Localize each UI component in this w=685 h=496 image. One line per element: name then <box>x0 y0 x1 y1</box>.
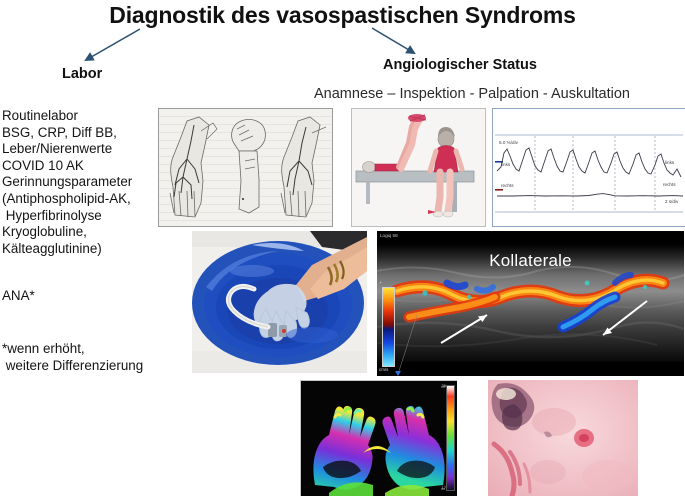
examination-steps-subheading: Anamnese – Inspektion - Palpation - Ausk… <box>314 86 630 102</box>
ratschow-drawing-icon <box>352 109 485 226</box>
hand-vessel-drawing-panel <box>158 108 333 227</box>
page-title: Diagnostik des vasospastischen Syndroms <box>0 2 685 29</box>
lab-parameter-list: Routinelabor BSG, CRP, Diff BB, Leber/Ni… <box>2 108 162 257</box>
ppg-right-channel-label-end: rechts <box>663 182 676 187</box>
ppg-left-channel-label-end: links <box>665 160 674 165</box>
ppg-pulse-curve-panel: h, Werner Puls: Zeh 1 (PPG) 09.10.2009 1… <box>492 108 685 227</box>
ppg-left-channel-label: links <box>501 162 510 167</box>
temperature-color-scale <box>446 385 455 491</box>
footnote-text: *wenn erhöht, weitere Differenzierung <box>2 341 202 374</box>
duplex-ultrasound-panel: + cm/s Logiq 58 Kollaterale <box>377 231 684 376</box>
ppg-right-channel-label: rechts <box>501 183 514 188</box>
doppler-scale-bottom-label: cm/s <box>379 367 388 372</box>
thermography-panel: 36 17 <box>300 380 457 496</box>
doppler-color-scale <box>382 287 395 367</box>
cold-water-provocation-photo <box>192 231 367 373</box>
hand-drawing-middle-icon <box>219 115 274 219</box>
skin-photo-illustration <box>488 380 638 496</box>
thermo-scale-top-label: 36 <box>442 383 446 388</box>
ratschow-test-illustration-panel <box>351 108 486 227</box>
slide-canvas: Diagnostik des vasospastischen Syndroms … <box>0 0 685 496</box>
thermo-scale-bottom-label: 17 <box>442 485 446 490</box>
labor-heading: Labor <box>62 66 102 82</box>
doppler-scale-top-label: + <box>379 280 382 285</box>
basin-photo-illustration <box>192 231 367 373</box>
ppg-waveform-chart <box>493 109 685 226</box>
hand-drawing-right-icon <box>272 115 330 219</box>
ppg-amplitude-scale: 5.0 %/div <box>499 140 518 145</box>
angiologischer-status-heading: Angiologischer Status <box>383 57 537 73</box>
ultrasound-image <box>377 231 684 376</box>
hand-drawing-left-icon <box>161 115 219 219</box>
ppg-time-scale: 2 s/div <box>665 199 678 204</box>
ana-item: ANA* <box>2 288 35 303</box>
thermography-image <box>301 381 457 496</box>
ultrasound-device-label: Logiq 58 <box>380 233 398 238</box>
skin-clinical-photo <box>488 380 638 496</box>
